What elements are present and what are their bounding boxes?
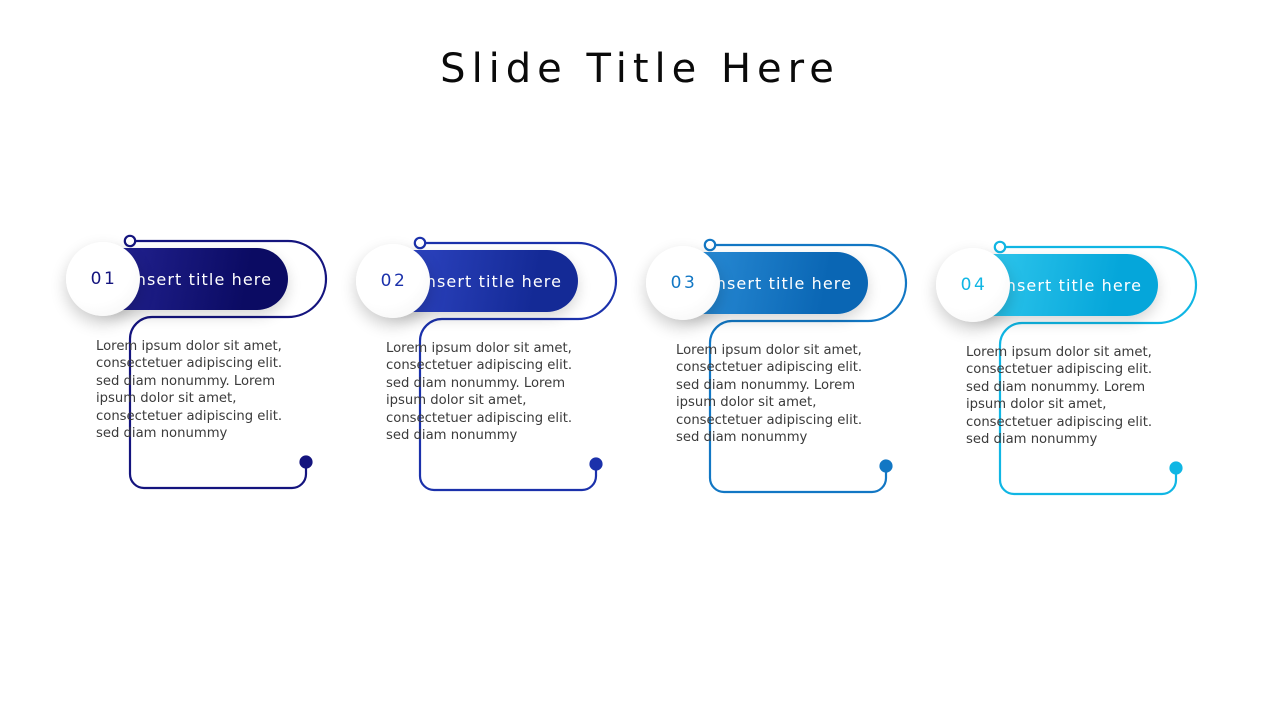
- card-number: 03: [669, 273, 698, 293]
- connector-ring-icon: [705, 240, 715, 250]
- slide-canvas: Slide Title Here Insert title here01Lore…: [0, 0, 1280, 720]
- card-body-text: Lorem ipsum dolor sit amet, consectetuer…: [676, 342, 872, 446]
- card-number: 04: [959, 275, 988, 295]
- connector-dot-icon: [299, 455, 312, 468]
- connector-dot-icon: [589, 457, 602, 470]
- cards-container: Insert title here01Lorem ipsum dolor sit…: [0, 0, 1280, 720]
- card-number-badge[interactable]: 01: [66, 242, 140, 316]
- card-number-badge[interactable]: 02: [356, 244, 430, 318]
- card-04[interactable]: Insert title here04Lorem ipsum dolor sit…: [930, 230, 1230, 520]
- card-02[interactable]: Insert title here02Lorem ipsum dolor sit…: [350, 226, 650, 516]
- connector-dot-icon: [879, 459, 892, 472]
- connector-ring-icon: [125, 236, 135, 246]
- connector-dot-icon: [1169, 461, 1182, 474]
- card-03[interactable]: Insert title here03Lorem ipsum dolor sit…: [640, 228, 940, 518]
- card-number-badge[interactable]: 04: [936, 248, 1010, 322]
- card-number-badge[interactable]: 03: [646, 246, 720, 320]
- card-01[interactable]: Insert title here01Lorem ipsum dolor sit…: [60, 224, 360, 514]
- card-number: 01: [89, 269, 118, 289]
- connector-ring-icon: [995, 242, 1005, 252]
- card-body-text: Lorem ipsum dolor sit amet, consectetuer…: [96, 338, 292, 442]
- card-body-text: Lorem ipsum dolor sit amet, consectetuer…: [966, 344, 1162, 448]
- card-number: 02: [379, 271, 408, 291]
- card-body-text: Lorem ipsum dolor sit amet, consectetuer…: [386, 340, 582, 444]
- connector-ring-icon: [415, 238, 425, 248]
